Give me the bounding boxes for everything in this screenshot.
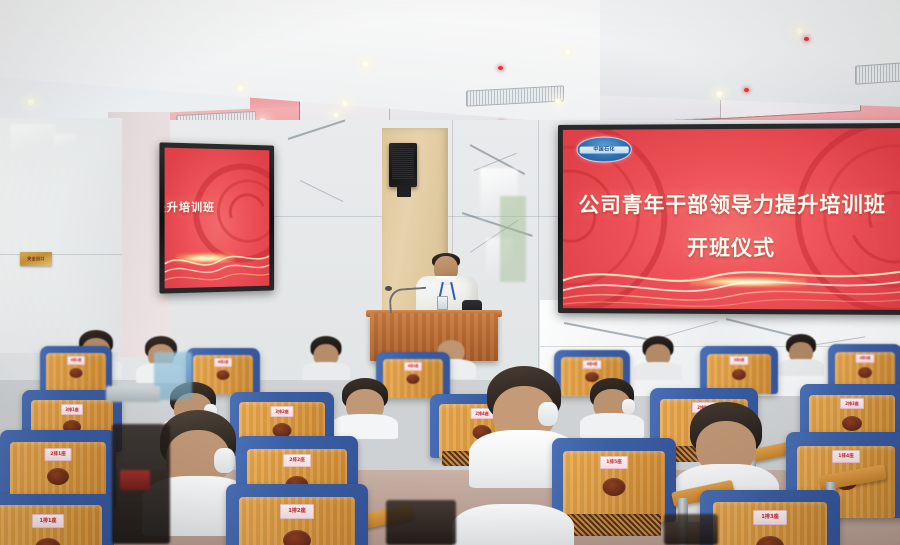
seat-medallion (858, 367, 872, 378)
ceiling-downlight (553, 98, 563, 105)
logo-text: 中国石化 (578, 146, 631, 153)
seat-medallion (283, 530, 311, 545)
audience-member (306, 336, 346, 378)
seat-number-label: 2排2座 (283, 454, 311, 467)
seat-medallion (217, 370, 230, 380)
ceiling-downlight (25, 98, 37, 106)
loudspeaker-grille (392, 147, 414, 180)
gooseneck-microphone-stem (388, 287, 428, 314)
seat-number-label: 3排1座 (61, 404, 83, 415)
exit-sign-plaque-text: 安全出口 (20, 252, 52, 266)
ceiling-indicator-light (804, 37, 809, 41)
seat-number-label: 3排3座 (856, 354, 875, 363)
auditorium-seat[interactable]: 1排3座 (700, 490, 840, 545)
wall-mounted-loudspeaker (389, 143, 417, 187)
auditorium-seat[interactable]: 1排2座 (226, 484, 368, 545)
left-screen-title-line1: 力提升培训班 (165, 198, 249, 215)
window-reflection (500, 196, 526, 282)
gooseneck-microphone-head (385, 286, 392, 291)
aisle-shadow (386, 500, 456, 545)
ceiling-indicator-light (498, 66, 503, 70)
audience-member (458, 496, 568, 545)
lecture-hall-photo: 安全出口 力提升培训班 式 (0, 0, 900, 545)
main-screen-title-line1: 公司青年干部领导力提升培训班 (563, 189, 900, 219)
auditorium-seat[interactable]: 3排4座 (700, 346, 778, 394)
seat-number-label: 3排2座 (271, 406, 294, 417)
seat-medallion (47, 468, 69, 485)
main-led-screen[interactable]: 中国石化 公司青年干部领导力提升培训班 开班仪式 (558, 123, 900, 315)
ceiling-downlight (793, 26, 806, 36)
loudspeaker-mount-bracket (397, 186, 411, 197)
exit-sign-plaque: 安全出口 (20, 252, 52, 266)
left-screen-wave-graphic (165, 229, 270, 289)
seat-number-label: 2排1座 (45, 448, 72, 461)
seat-medallion (603, 478, 626, 496)
left-led-screen[interactable]: 力提升培训班 式 (159, 142, 274, 293)
ceiling-downlight (340, 100, 350, 107)
ceiling-downlight (236, 84, 246, 92)
ceiling-downlight (562, 48, 573, 56)
seat-number-label: 2排3座 (840, 398, 864, 409)
ceiling-downlight (714, 90, 725, 98)
seat-medallion (732, 369, 746, 380)
seat-number-label: 4排1座 (67, 356, 85, 365)
left-column (0, 118, 122, 353)
seat-number-label: 4排2座 (214, 358, 232, 367)
seat-number-label: 4排3座 (404, 362, 422, 371)
left-led-screen-surface: 力提升培训班 式 (165, 148, 270, 289)
seat-number-label: 1排2座 (280, 504, 314, 519)
audience-member (782, 334, 820, 374)
seat-number-label: 1排3座 (753, 510, 787, 525)
seat-number-label: 1排5座 (600, 456, 628, 469)
seat-medallion (842, 416, 862, 431)
seat-number-label: 3排4座 (730, 356, 749, 365)
audience-member (336, 378, 394, 436)
auditorium-seat[interactable]: 1排1座 (0, 494, 114, 545)
audience-member (584, 378, 640, 436)
seat-medallion (407, 374, 420, 384)
hvac-vent-grille (855, 62, 900, 84)
seat-back-folder (120, 470, 150, 490)
aisle-shadow (664, 514, 718, 545)
ceiling-indicator-light (744, 88, 749, 92)
seat-number-label: 1排4座 (832, 450, 860, 463)
ceiling-downlight (360, 60, 371, 68)
laptop-base (106, 386, 160, 402)
seat-number-label: 4排4座 (583, 360, 602, 369)
seat-number-label: 1排1座 (32, 514, 64, 528)
audience-member (638, 336, 678, 378)
seat-medallion (70, 368, 83, 378)
auditorium-seat[interactable]: 4排1座 (40, 346, 112, 392)
company-logo-badge: 中国石化 (577, 136, 632, 162)
ceiling-downlight (332, 112, 340, 118)
main-screen-wave-graphic (563, 251, 900, 310)
auditorium-seat[interactable]: 1排5座 (552, 438, 676, 522)
presenter-id-badge (437, 296, 448, 310)
main-led-screen-surface: 中国石化 公司青年干部领导力提升培训班 开班仪式 (563, 128, 900, 310)
